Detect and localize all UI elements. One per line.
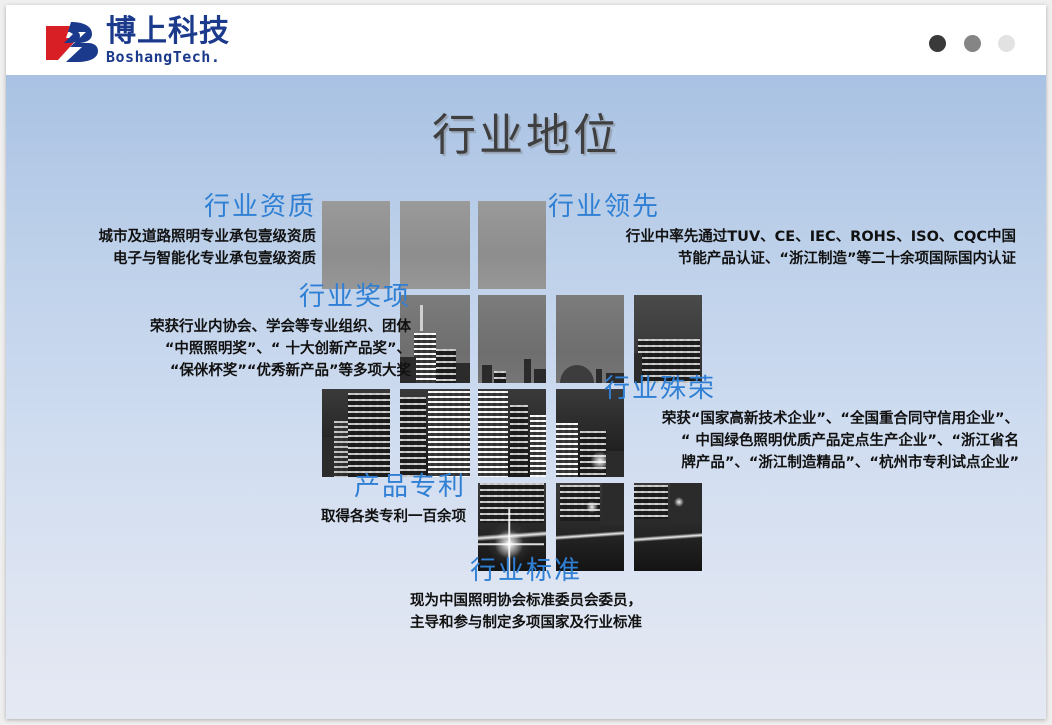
mosaic-tile [478, 295, 546, 383]
body-line: 荣获“国家高新技术企业”、“全国重合同守信用企业”、 [604, 408, 1019, 430]
block-body-standard: 现为中国照明协会标准委员会委员， 主导和参与制定多项国家及行业标准 [326, 590, 726, 634]
body-line: “ 中国绿色照明优质产品定点生产企业”、“浙江省名 [604, 430, 1019, 452]
body-line: 电子与智能化专业承包壹级资质 [16, 248, 316, 270]
body-line: 取得各类专利一百余项 [106, 506, 466, 528]
company-logo[interactable]: 博上科技 BoshangTech. [44, 17, 230, 65]
text-block-honors: 行业殊荣 荣获“国家高新技术企业”、“全国重合同守信用企业”、 “ 中国绿色照明… [604, 375, 1019, 474]
nav-dot-active[interactable] [929, 35, 946, 52]
block-body-honors: 荣获“国家高新技术企业”、“全国重合同守信用企业”、 “ 中国绿色照明优质产品定… [604, 408, 1019, 474]
body-line: 现为中国照明协会标准委员会委员， [326, 590, 726, 612]
body-line: 节能产品认证、“浙江制造”等二十余项国际国内认证 [546, 248, 1016, 270]
logo-english-name: BoshangTech. [106, 50, 230, 65]
mosaic-tile [478, 389, 546, 477]
slide-header: 博上科技 BoshangTech. [6, 5, 1046, 75]
block-body-qualification: 城市及道路照明专业承包壹级资质 电子与智能化专业承包壹级资质 [16, 226, 316, 270]
nav-dot-light[interactable] [998, 35, 1015, 52]
mosaic-tile [478, 201, 546, 289]
mosaic-tile [322, 201, 390, 289]
mosaic-tile [556, 295, 624, 383]
slide-canvas: 行业地位 [6, 75, 1046, 719]
logo-chinese-name: 博上科技 [106, 17, 230, 47]
block-heading-qualification: 行业资质 [16, 193, 316, 222]
block-heading-awards: 行业奖项 [66, 283, 411, 312]
block-body-patent: 取得各类专利一百余项 [106, 506, 466, 528]
block-heading-patent: 产品专利 [106, 473, 466, 502]
body-line: 行业中率先通过TUV、CE、IEC、ROHS、ISO、CQC中国 [546, 226, 1016, 248]
mosaic-tile [634, 295, 702, 383]
body-line: 城市及道路照明专业承包壹级资质 [16, 226, 316, 248]
block-body-awards: 荣获行业内协会、学会等专业组织、团体 “中照照明奖”、“ 十大创新产品奖”、 “… [66, 316, 411, 382]
block-heading-honors: 行业殊荣 [604, 375, 1019, 404]
boshang-logo-icon [44, 18, 100, 64]
nav-dot-mid[interactable] [964, 35, 981, 52]
body-line: “保侎杯奖”“优秀新产品”等多项大奖 [66, 360, 411, 382]
body-line: 荣获行业内协会、学会等专业组织、团体 [66, 316, 411, 338]
text-block-qualification: 行业资质 城市及道路照明专业承包壹级资质 电子与智能化专业承包壹级资质 [16, 193, 316, 270]
mosaic-tile [400, 389, 470, 477]
text-block-standard: 行业标准 现为中国照明协会标准委员会委员， 主导和参与制定多项国家及行业标准 [326, 557, 726, 634]
body-line: 主导和参与制定多项国家及行业标准 [326, 612, 726, 634]
text-block-patent: 产品专利 取得各类专利一百余项 [106, 473, 466, 528]
block-heading-standard: 行业标准 [326, 557, 726, 586]
body-line: “中照照明奖”、“ 十大创新产品奖”、 [66, 338, 411, 360]
mosaic-tile [400, 201, 470, 289]
block-body-leading: 行业中率先通过TUV、CE、IEC、ROHS、ISO、CQC中国 节能产品认证、… [546, 226, 1016, 270]
presentation-slide: 博上科技 BoshangTech. 行业地位 [6, 5, 1046, 719]
mosaic-tile [322, 389, 390, 477]
text-block-awards: 行业奖项 荣获行业内协会、学会等专业组织、团体 “中照照明奖”、“ 十大创新产品… [66, 283, 411, 382]
body-line: 牌产品”、“浙江制造精品”、“杭州市专利试点企业” [604, 452, 1019, 474]
text-block-leading: 行业领先 行业中率先通过TUV、CE、IEC、ROHS、ISO、CQC中国 节能… [546, 193, 1016, 270]
block-heading-leading: 行业领先 [548, 193, 1016, 222]
